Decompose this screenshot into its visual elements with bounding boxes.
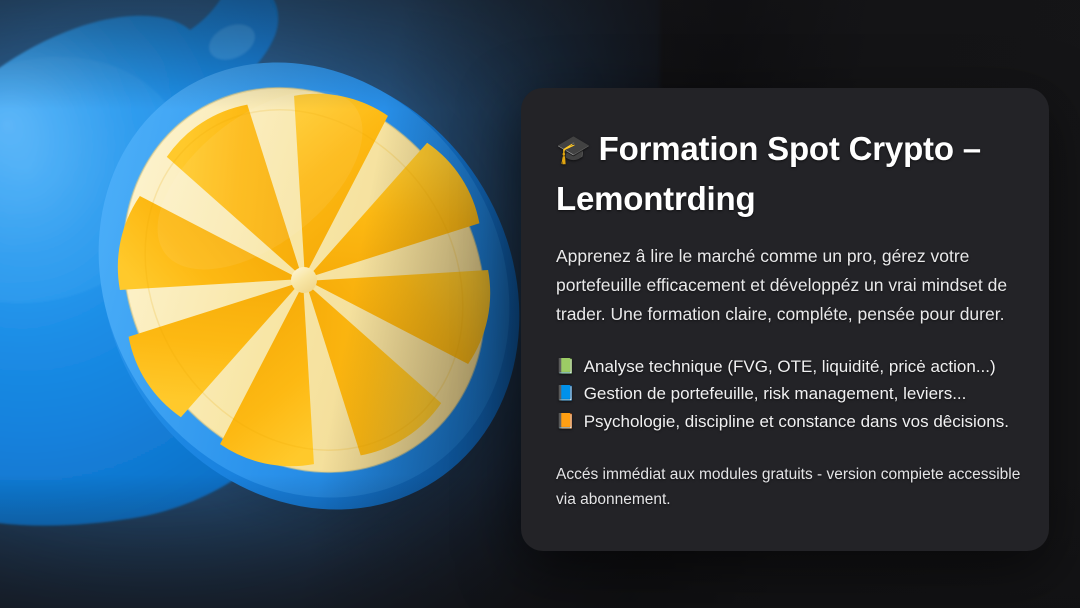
list-item: 📙 Psychologie, discipline et constance d… [556, 408, 1023, 436]
graduation-cap-icon: 🎓 [556, 129, 591, 172]
blue-book-icon: 📘 [556, 386, 575, 401]
course-info-card: 🎓Formation Spot Crypto – Lemontrding App… [521, 88, 1049, 551]
course-description: Apprenez â lire le marché comme un pro, … [556, 242, 1008, 329]
page-title: 🎓Formation Spot Crypto – Lemontrding [556, 124, 1023, 224]
orange-book-icon: 📙 [556, 414, 575, 429]
feature-list: 📗 Analyse technique (FVG, OTE, liquidité… [556, 353, 1023, 436]
list-item-label: Gestion de portefeuille, risk management… [584, 380, 967, 408]
poster-canvas: 🎓Formation Spot Crypto – Lemontrding App… [0, 0, 1080, 608]
list-item-label: Analyse technique (FVG, OTE, liquidité, … [584, 353, 996, 381]
list-item: 📘 Gestion de portefeuille, risk manageme… [556, 380, 1023, 408]
page-title-text: Formation Spot Crypto – Lemontrding [556, 130, 981, 217]
list-item-label: Psychologie, discipline et constance dan… [584, 408, 1009, 436]
access-note: Accés immédiat aux modules gratuits - ve… [556, 462, 1023, 512]
list-item: 📗 Analyse technique (FVG, OTE, liquidité… [556, 353, 1023, 381]
green-book-icon: 📗 [556, 359, 575, 374]
